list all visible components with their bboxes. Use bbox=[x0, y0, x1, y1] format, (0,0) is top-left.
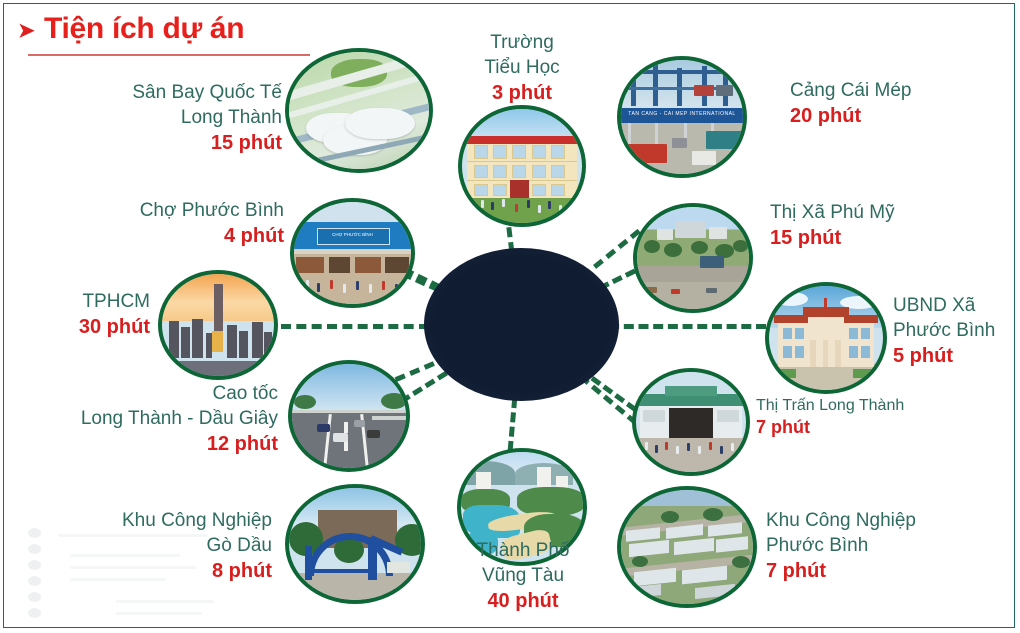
label-time: 15 phút bbox=[770, 225, 990, 251]
label-time: 4 phút bbox=[70, 223, 284, 249]
label-time: 15 phút bbox=[60, 130, 282, 156]
label-cho-phuoc-binh: Chợ Phước Bình 4 phút bbox=[70, 198, 284, 249]
bubble-ubnd-xa-phuoc-binh[interactable] bbox=[765, 282, 887, 394]
bubble-thi-xa-phu-my[interactable] bbox=[633, 203, 753, 313]
label-name-line2: Tiểu Học bbox=[484, 57, 559, 78]
label-name-line1: Thành Phố bbox=[477, 540, 570, 561]
label-time: 8 phút bbox=[38, 558, 272, 584]
bubble-thi-tran-long-thanh[interactable] bbox=[632, 368, 750, 476]
page-title: Tiện ích dự án bbox=[44, 12, 244, 46]
label-name-line2: Long Thành bbox=[181, 107, 282, 128]
label-name-line1: Sân Bay Quốc Tế bbox=[132, 82, 282, 103]
label-time: 5 phút bbox=[893, 343, 1019, 369]
bubble-cao-toc-long-thanh-dau-giay[interactable] bbox=[288, 360, 410, 472]
bubble-khu-cong-nghiep-phuoc-binh[interactable] bbox=[617, 486, 757, 608]
label-name-line1: Khu Công Nghiệp bbox=[122, 510, 272, 531]
label-tphcm: TPHCM 30 phút bbox=[0, 289, 150, 340]
label-time: 12 phút bbox=[10, 431, 278, 457]
label-time: 40 phút bbox=[432, 588, 614, 614]
label-name-line1: Cảng Cái Mép bbox=[790, 80, 911, 101]
label-truong-tieu-hoc: Trường Tiểu Học 3 phút bbox=[434, 30, 610, 106]
bubble-tphcm[interactable] bbox=[158, 270, 278, 380]
label-ubnd-xa-phuoc-binh: UBND Xã Phước Bình 5 phút bbox=[893, 293, 1019, 369]
project-center-hub[interactable] bbox=[424, 248, 619, 401]
town-aerial-photo bbox=[637, 207, 749, 309]
label-cang-cai-mep: Cảng Cái Mép 20 phút bbox=[790, 78, 1000, 129]
label-name-line1: UBND Xã bbox=[893, 295, 975, 316]
highway-photo bbox=[292, 364, 406, 468]
label-name-line1: TPHCM bbox=[82, 291, 150, 312]
market-photo: CHỢ PHƯỚC BÌNH bbox=[294, 202, 411, 304]
bubble-cang-cai-mep[interactable]: TAN CANG - CAI MEP INTERNATIONAL bbox=[617, 56, 747, 178]
infographic-canvas: ➤ Tiện ích dự án bbox=[0, 0, 1020, 633]
label-name-line1: Trường bbox=[490, 32, 554, 53]
bubble-khu-cong-nghiep-go-dau[interactable] bbox=[285, 484, 425, 604]
label-khu-cong-nghiep-phuoc-binh: Khu Công Nghiệp Phước Bình 7 phút bbox=[766, 508, 1006, 584]
label-time: 7 phút bbox=[766, 558, 1006, 584]
label-thi-xa-phu-my: Thị Xã Phú Mỹ 15 phút bbox=[770, 200, 990, 251]
label-name-line2: Gò Dầu bbox=[207, 535, 272, 556]
label-cao-toc-long-thanh-dau-giay: Cao tốc Long Thành - Dầu Giây 12 phút bbox=[10, 381, 278, 457]
label-khu-cong-nghiep-go-dau: Khu Công Nghiệp Gò Dầu 8 phút bbox=[38, 508, 272, 584]
label-san-bay-quoc-te-long-thanh: Sân Bay Quốc Tế Long Thành 15 phút bbox=[60, 80, 282, 156]
school-photo bbox=[462, 109, 582, 223]
bubble-truong-tieu-hoc[interactable] bbox=[458, 105, 586, 227]
label-thanh-pho-vung-tau: Thành Phố Vũng Tàu 40 phút bbox=[432, 538, 614, 614]
port-photo: TAN CANG - CAI MEP INTERNATIONAL bbox=[621, 60, 743, 174]
market-building-photo bbox=[636, 372, 746, 472]
label-name-line1: Thị Trấn Long Thành bbox=[756, 397, 904, 414]
label-time: 20 phút bbox=[790, 103, 1000, 129]
label-name-line1: Cao tốc bbox=[213, 383, 278, 404]
industrial-gate-photo bbox=[289, 488, 421, 600]
port-sign-text: TAN CANG - CAI MEP INTERNATIONAL bbox=[621, 111, 743, 117]
industrial-park-aerial-photo bbox=[621, 490, 753, 604]
arrow-right-icon: ➤ bbox=[18, 21, 35, 41]
label-name-line1: Chợ Phước Bình bbox=[140, 200, 284, 221]
label-time: 3 phút bbox=[434, 80, 610, 106]
market-sign-text: CHỢ PHƯỚC BÌNH bbox=[294, 232, 411, 237]
label-time: 7 phút bbox=[756, 416, 956, 439]
bubble-san-bay-quoc-te-long-thanh[interactable] bbox=[285, 48, 433, 173]
title-underline bbox=[28, 54, 310, 56]
header: ➤ Tiện ích dự án bbox=[14, 8, 334, 58]
label-name-line2: Vũng Tàu bbox=[482, 565, 564, 586]
government-building-photo bbox=[769, 286, 883, 390]
label-name-line2: Phước Bình bbox=[766, 535, 868, 556]
bubble-cho-phuoc-binh[interactable]: CHỢ PHƯỚC BÌNH bbox=[290, 198, 415, 308]
airport-photo bbox=[289, 52, 429, 169]
label-name-line2: Phước Bình bbox=[893, 320, 995, 341]
label-name-line2: Long Thành - Dầu Giây bbox=[81, 408, 278, 429]
label-name-line1: Thị Xã Phú Mỹ bbox=[770, 202, 895, 223]
label-time: 30 phút bbox=[0, 314, 150, 340]
city-skyline-photo bbox=[162, 274, 274, 376]
label-thi-tran-long-thanh: Thị Trấn Long Thành 7 phút bbox=[756, 395, 956, 439]
label-name-line1: Khu Công Nghiệp bbox=[766, 510, 916, 531]
